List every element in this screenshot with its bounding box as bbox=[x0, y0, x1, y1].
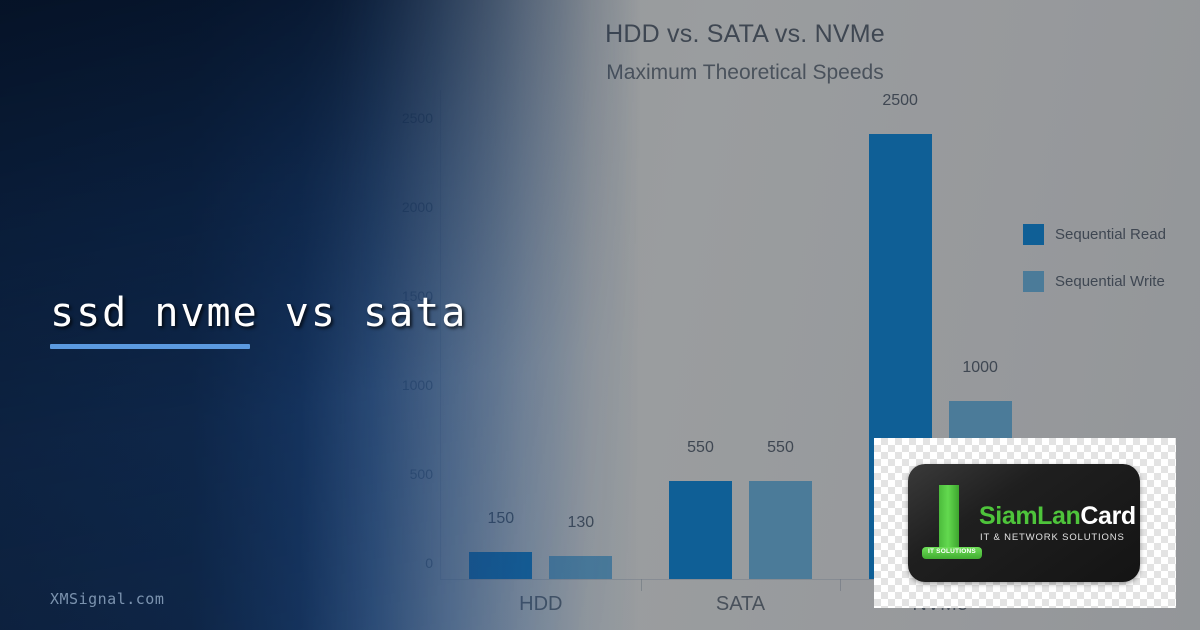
logo-word-white: Card bbox=[1080, 502, 1135, 530]
logo-wordmark: SiamLanCard bbox=[979, 502, 1136, 531]
x-axis-label-sata: SATA bbox=[716, 593, 765, 616]
legend-label-write: Sequential Write bbox=[1055, 273, 1165, 290]
logo-word-green: SiamLan bbox=[979, 502, 1080, 530]
page-title: ssd nvme vs sata bbox=[50, 290, 467, 336]
site-watermark: XMSignal.com bbox=[50, 590, 164, 608]
bar-sata-read bbox=[669, 481, 732, 579]
logo-tagline: IT & NETWORK SOLUTIONS bbox=[980, 532, 1125, 543]
bar-value-label: 550 bbox=[687, 439, 714, 457]
x-axis-tick-mark bbox=[641, 579, 642, 591]
bar-value-label: 550 bbox=[767, 439, 794, 457]
legend-swatch-icon-read bbox=[1023, 224, 1044, 245]
screenshot-canvas: HDD vs. SATA vs. NVMe Maximum Theoretica… bbox=[0, 0, 1200, 630]
bar-value-label: 1000 bbox=[962, 359, 998, 377]
logo-panel: IT SOLUTIONS SiamLanCard IT & NETWORK SO… bbox=[874, 438, 1176, 608]
chart-legend: Sequential Read Sequential Write bbox=[1023, 222, 1166, 316]
legend-item-sequential-write: Sequential Write bbox=[1023, 269, 1166, 293]
legend-item-sequential-read: Sequential Read bbox=[1023, 222, 1166, 246]
legend-label-read: Sequential Read bbox=[1055, 226, 1166, 243]
x-axis-tick-mark bbox=[840, 579, 841, 591]
bar-sata-write bbox=[749, 481, 812, 579]
logo-badge: IT SOLUTIONS bbox=[922, 547, 982, 559]
logo-card: IT SOLUTIONS SiamLanCard IT & NETWORK SO… bbox=[908, 464, 1140, 582]
legend-swatch-icon-write bbox=[1023, 271, 1044, 292]
bar-value-label: 2500 bbox=[882, 92, 918, 110]
headline-underline-rule bbox=[50, 344, 250, 349]
